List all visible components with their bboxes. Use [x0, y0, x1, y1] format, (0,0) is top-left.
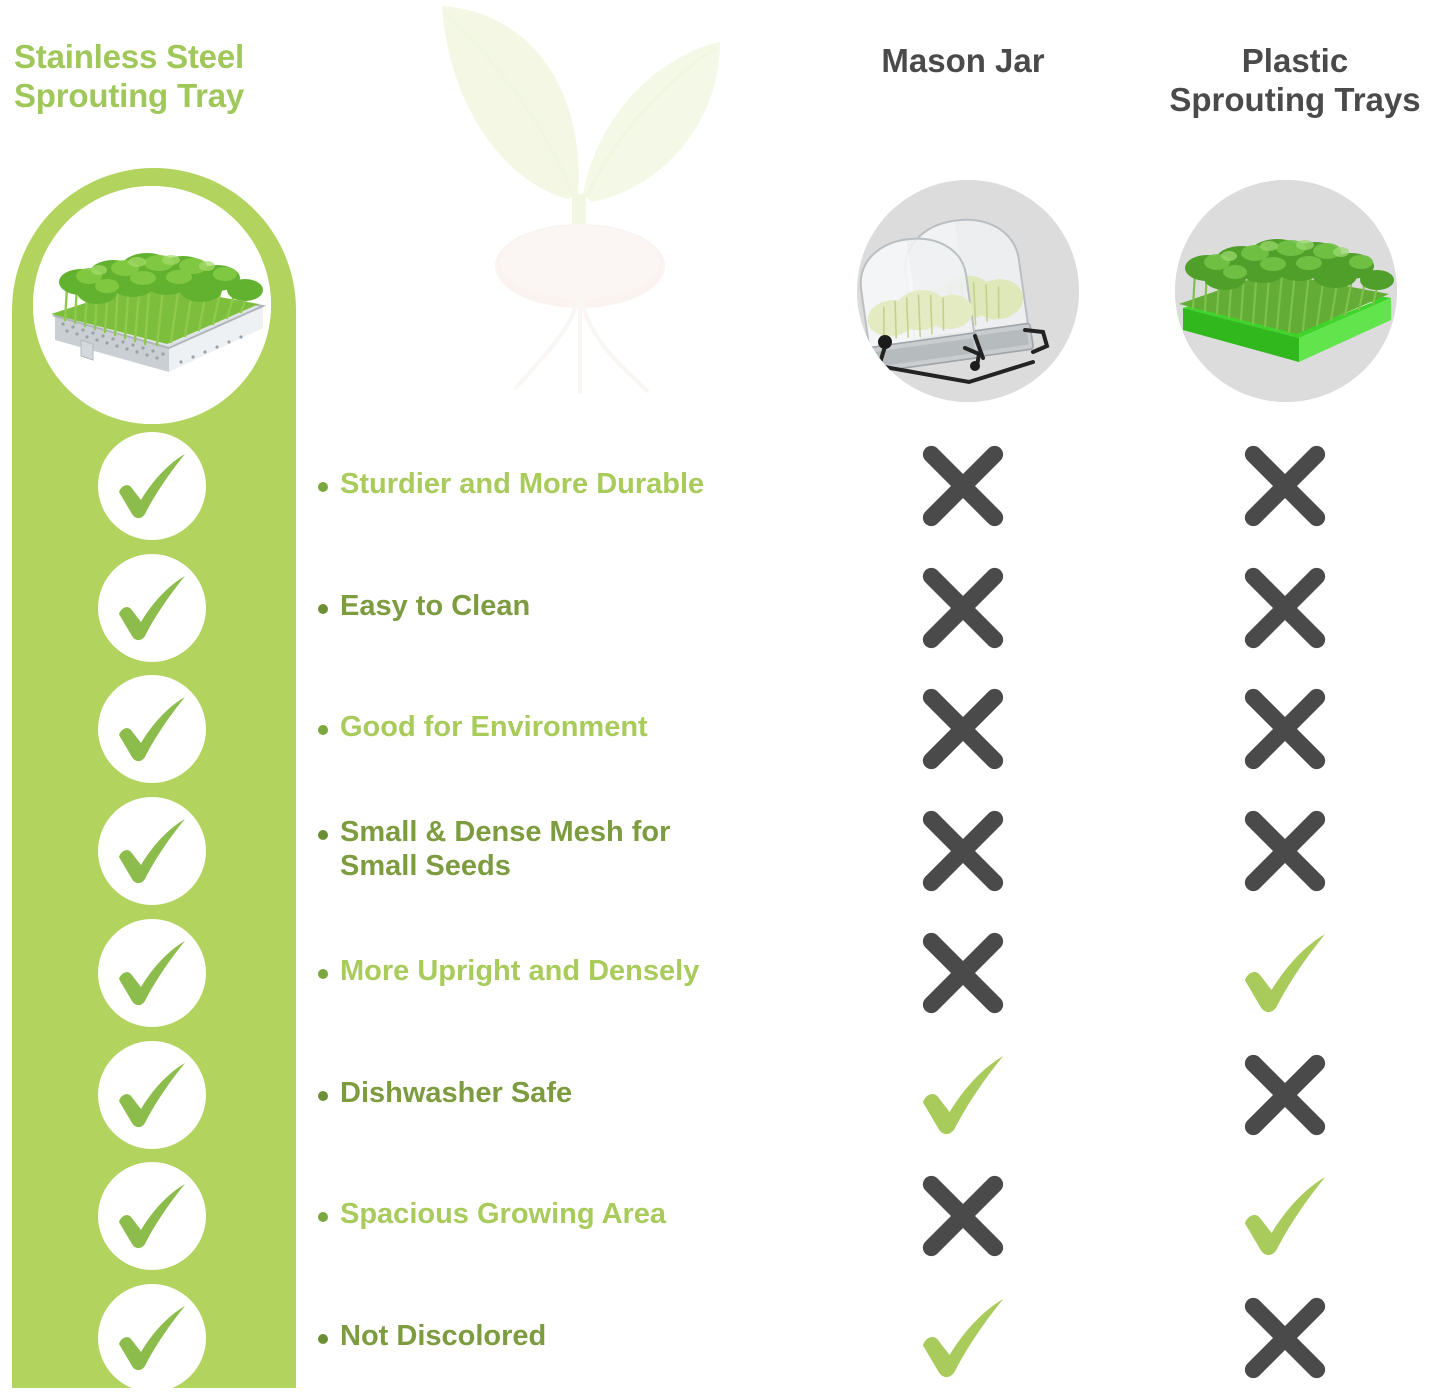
bullet-dot-icon: [318, 482, 328, 492]
bullet-dot-icon: [318, 1334, 328, 1344]
sprouting-seed-icon: [420, 0, 750, 414]
feature-label: Sturdier and More Durable: [318, 468, 838, 502]
cross-icon-plastic: [1240, 441, 1330, 531]
bullet-dot-icon: [318, 604, 328, 614]
feature-text: Spacious Growing Area: [340, 1198, 838, 1232]
feature-text: Not Discolored: [340, 1320, 838, 1354]
column-header-mason-jar: Mason Jar: [838, 42, 1088, 81]
cross-icon-mason: [918, 1171, 1008, 1261]
product-check-circle: [98, 432, 206, 540]
feature-label: Spacious Growing Area: [318, 1198, 838, 1232]
feature-label: Small & Dense Mesh for Small Seeds: [318, 816, 838, 883]
feature-label: Dishwasher Safe: [318, 1077, 838, 1111]
product-photo-stainless-tray: [33, 186, 271, 424]
product-check-circle: [98, 919, 206, 1027]
feature-label: More Upright and Densely: [318, 955, 838, 989]
cross-icon-mason: [918, 928, 1008, 1018]
cross-icon-plastic: [1240, 1050, 1330, 1140]
product-check-circle: [98, 1162, 206, 1270]
cross-icon-plastic: [1240, 806, 1330, 896]
feature-text: Dishwasher Safe: [340, 1077, 838, 1111]
cross-icon-plastic: [1240, 684, 1330, 774]
product-check-circle: [98, 1284, 206, 1392]
product-check-circle: [98, 797, 206, 905]
feature-label: Good for Environment: [318, 711, 838, 745]
feature-text: Small & Dense Mesh for Small Seeds: [340, 816, 838, 883]
column-header-plastic-trays: Plastic Sprouting Trays: [1150, 42, 1440, 119]
cross-icon-mason: [918, 684, 1008, 774]
cross-icon-mason: [918, 563, 1008, 653]
feature-label: Not Discolored: [318, 1320, 838, 1354]
product-check-circle: [98, 1041, 206, 1149]
check-icon-mason: [918, 1293, 1008, 1383]
feature-label: Easy to Clean: [318, 590, 838, 624]
cross-icon-mason: [918, 441, 1008, 531]
bullet-dot-icon: [318, 1212, 328, 1222]
product-check-circle: [98, 675, 206, 783]
cross-icon-plastic: [1240, 1293, 1330, 1383]
bullet-dot-icon: [318, 830, 328, 840]
feature-text: Sturdier and More Durable: [340, 468, 838, 502]
check-icon-plastic: [1240, 928, 1330, 1018]
feature-text: Good for Environment: [340, 711, 838, 745]
product-photo-plastic-tray: [1175, 180, 1397, 402]
product-photo-mason-jar: [857, 180, 1079, 402]
bullet-dot-icon: [318, 969, 328, 979]
check-icon-mason: [918, 1050, 1008, 1140]
feature-text: More Upright and Densely: [340, 955, 838, 989]
cross-icon-plastic: [1240, 563, 1330, 653]
check-icon-plastic: [1240, 1171, 1330, 1261]
page-title-product-column: Stainless Steel Sprouting Tray: [14, 38, 344, 115]
cross-icon-mason: [918, 806, 1008, 896]
bullet-dot-icon: [318, 725, 328, 735]
comparison-chart: Stainless Steel Sprouting Tray Mason Jar…: [0, 0, 1445, 1395]
bullet-dot-icon: [318, 1091, 328, 1101]
feature-text: Easy to Clean: [340, 590, 838, 624]
product-check-circle: [98, 554, 206, 662]
